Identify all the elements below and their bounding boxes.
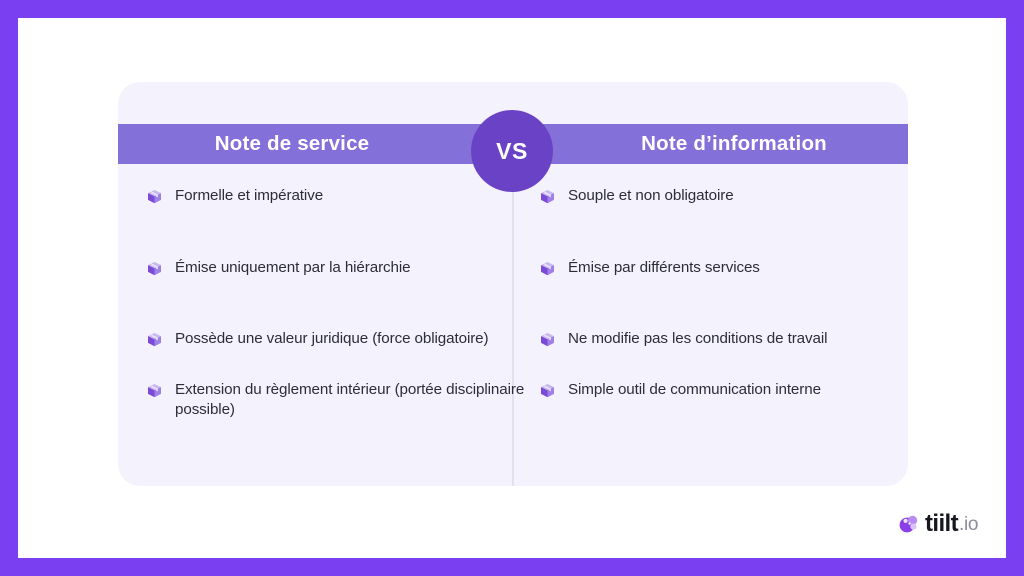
- column-right-items: Souple et non obligatoire Émise par diff…: [538, 186, 918, 400]
- package-box-icon: [538, 330, 557, 349]
- logo-wordmark: tiilt: [925, 512, 958, 536]
- column-header-left: Note de service: [118, 124, 514, 164]
- package-box-icon: [538, 259, 557, 278]
- list-item-label: Formelle et impérative: [175, 186, 323, 206]
- list-item-label: Extension du règlement intérieur (portée…: [175, 380, 525, 420]
- package-box-icon: [538, 187, 557, 206]
- column-header-right: Note d’information: [512, 124, 908, 164]
- list-item-label: Souple et non obligatoire: [568, 186, 734, 206]
- vs-label: VS: [496, 138, 528, 165]
- list-item-label: Simple outil de communication interne: [568, 380, 821, 400]
- list-item-label: Émise par différents services: [568, 258, 760, 278]
- package-box-icon: [145, 381, 164, 400]
- list-item-label: Possède une valeur juridique (force obli…: [175, 329, 488, 349]
- package-box-icon: [145, 187, 164, 206]
- slide-page: Note de service Note d’information VS: [18, 18, 1006, 558]
- vs-badge: VS: [471, 110, 553, 192]
- list-item: Ne modifie pas les conditions de travail: [538, 329, 918, 349]
- list-item-label: Émise uniquement par la hiérarchie: [175, 258, 411, 278]
- purple-frame: Note de service Note d’information VS: [0, 0, 1024, 576]
- package-box-icon: [145, 259, 164, 278]
- package-box-icon: [538, 381, 557, 400]
- list-item: Extension du règlement intérieur (portée…: [145, 380, 525, 420]
- list-item-label: Ne modifie pas les conditions de travail: [568, 329, 827, 349]
- list-item: Souple et non obligatoire: [538, 186, 918, 206]
- package-box-icon: [145, 330, 164, 349]
- column-left-items: Formelle et impérative Émise uniquement …: [145, 186, 525, 420]
- tiilt-blob-icon: [898, 513, 920, 535]
- list-item: Émise par différents services: [538, 258, 918, 278]
- list-item: Émise uniquement par la hiérarchie: [145, 258, 525, 278]
- list-item: Simple outil de communication interne: [538, 380, 918, 400]
- list-item: Possède une valeur juridique (force obli…: [145, 329, 525, 349]
- logo-tld: .io: [959, 515, 978, 534]
- list-item: Formelle et impérative: [145, 186, 525, 206]
- column-title-right: Note d’information: [641, 132, 827, 156]
- comparison-card: Note de service Note d’information VS: [118, 82, 908, 486]
- column-title-left: Note de service: [215, 132, 370, 156]
- tiilt-logo: tiilt .io: [898, 512, 978, 536]
